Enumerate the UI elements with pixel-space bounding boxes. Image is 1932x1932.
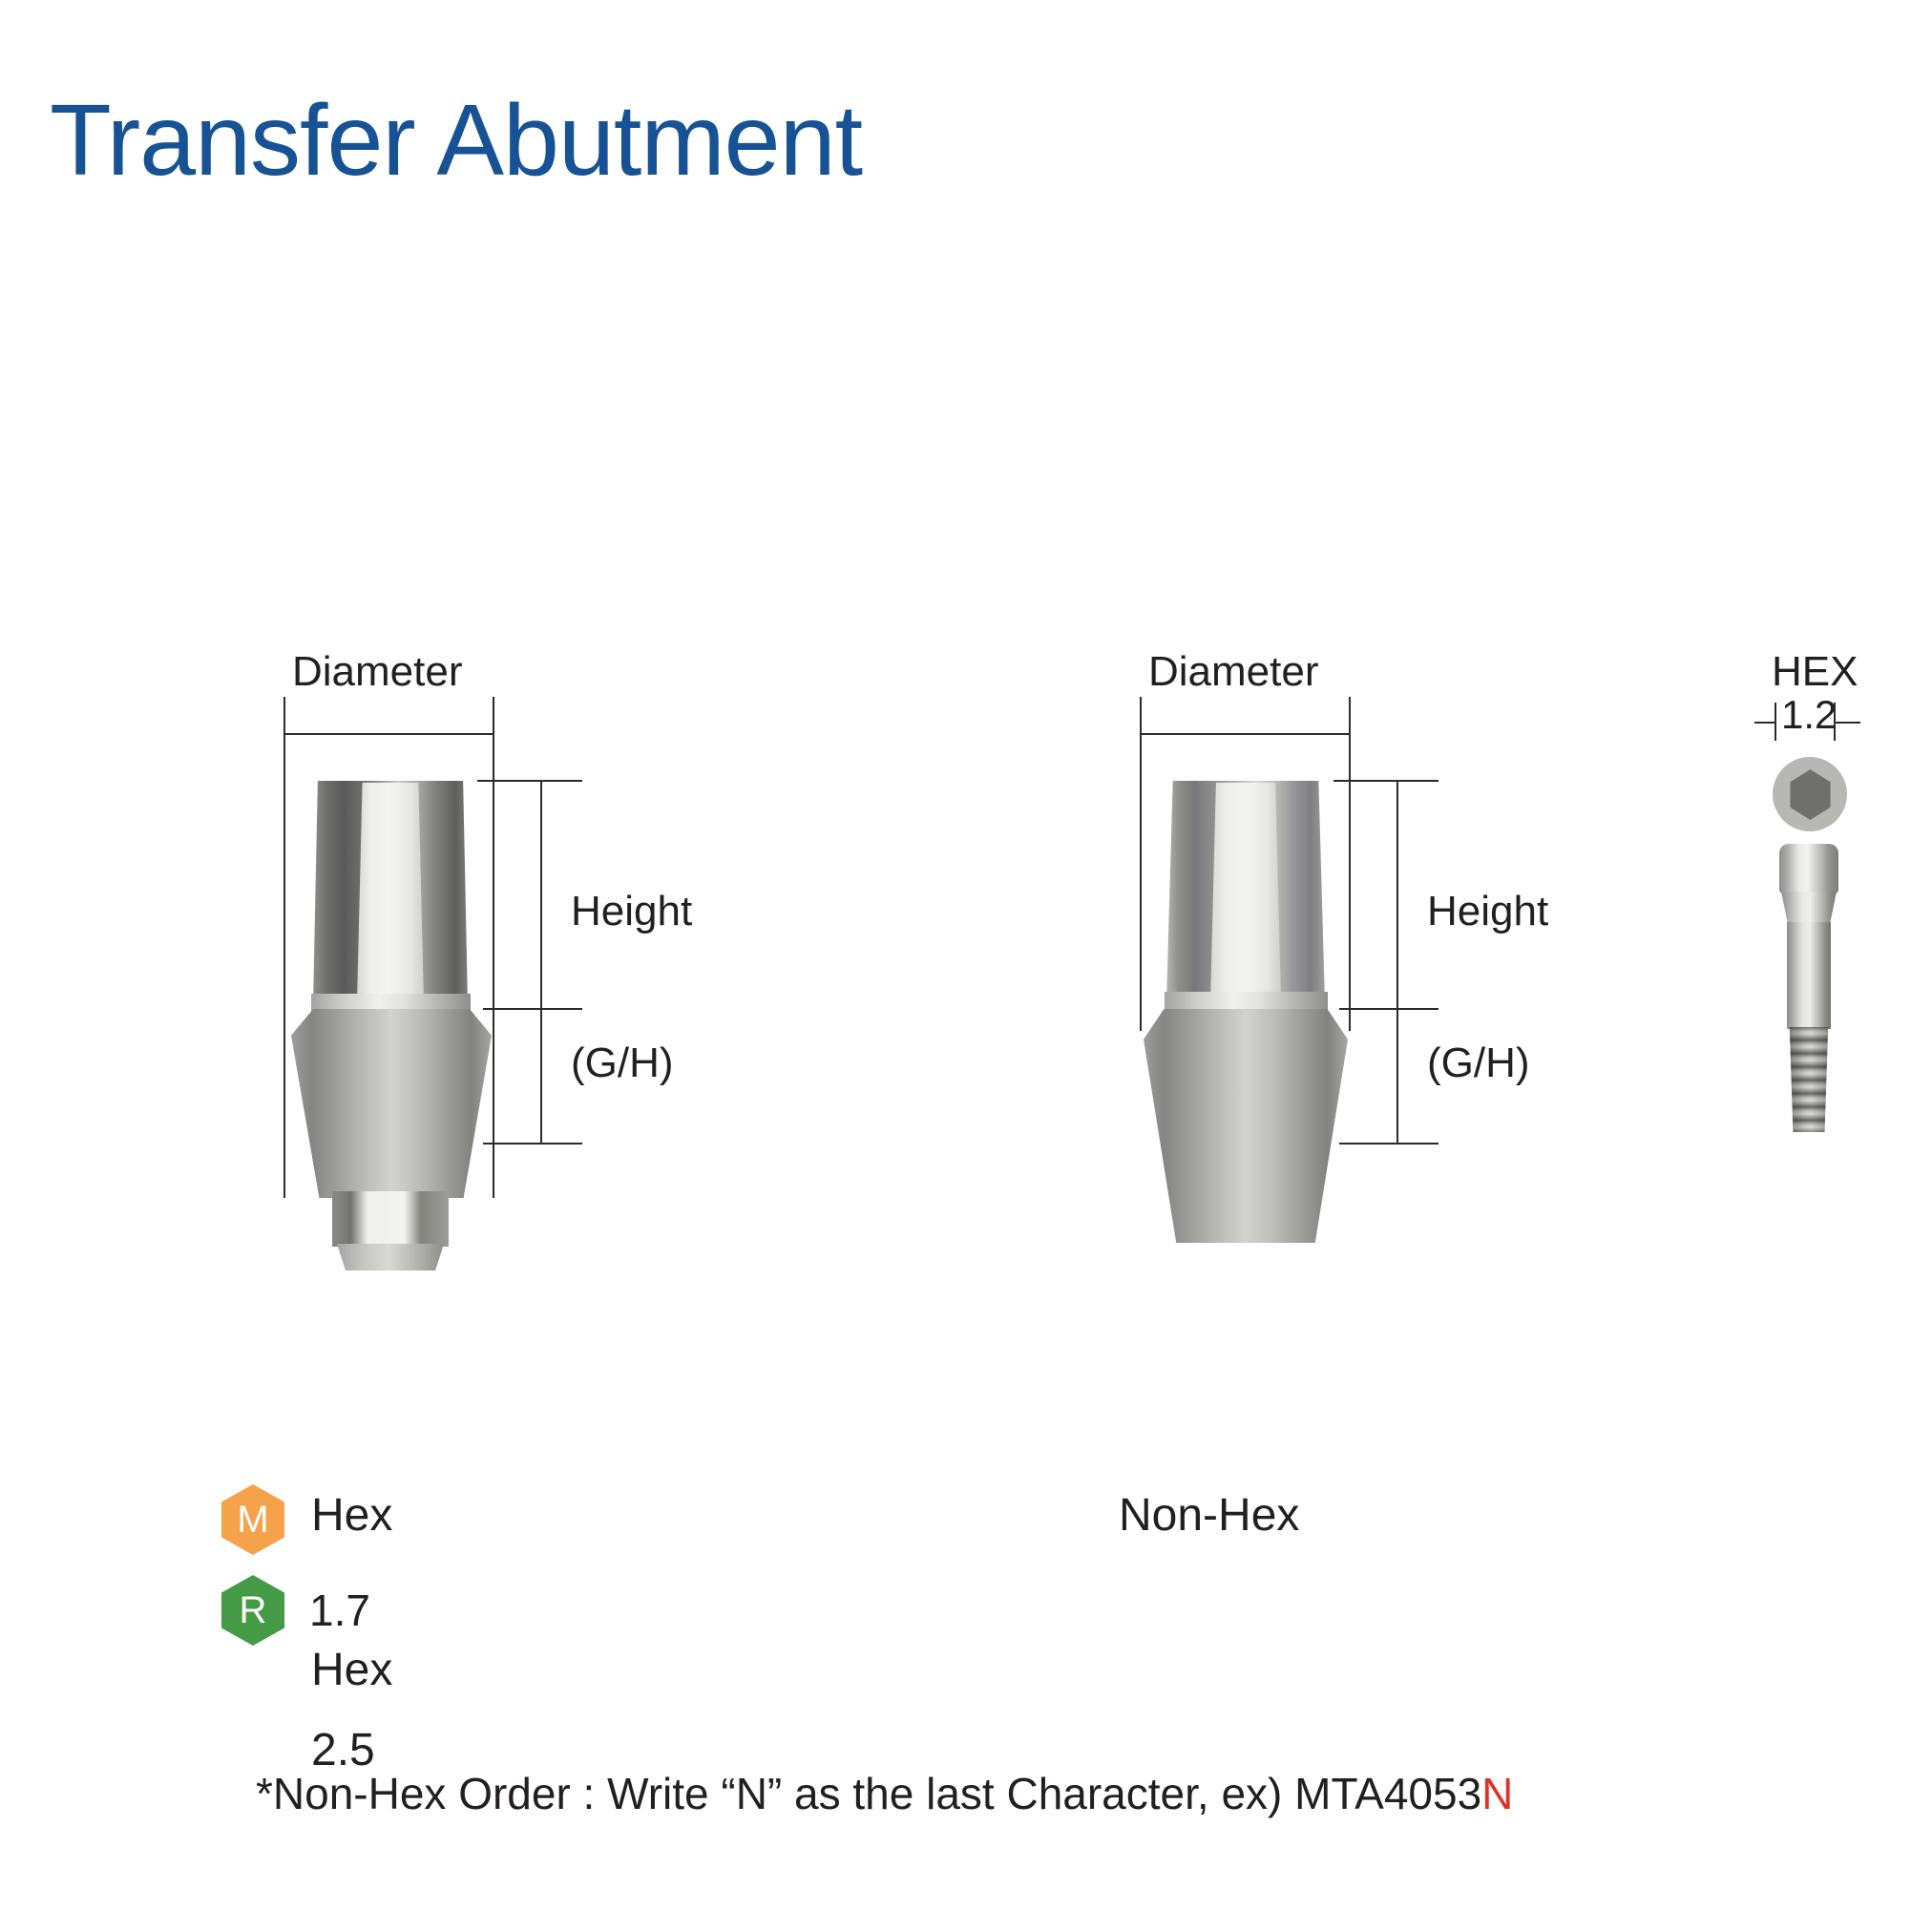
- right-gh-bottom-tick: [1339, 1143, 1438, 1144]
- hex-badge-r-icon: R: [221, 1575, 284, 1646]
- right-gh-label: (G/H): [1427, 1039, 1530, 1087]
- right-diameter-witness-right: [1349, 697, 1351, 1031]
- left-diameter-witness-right: [493, 697, 494, 1198]
- footnote-highlight-char: N: [1481, 1769, 1513, 1818]
- right-diameter-measure-line: [1140, 733, 1349, 735]
- left-height-label: Height: [571, 888, 692, 935]
- left-diameter-measure-line: [283, 733, 493, 735]
- left-height-bottom-tick: [483, 1008, 582, 1010]
- right-height-dim-line: [1396, 780, 1398, 1009]
- right-gh-dim-line: [1396, 1008, 1398, 1144]
- hex-badge-m-icon: M: [221, 1484, 284, 1555]
- left-abutment-hex-skirt: [337, 1244, 444, 1270]
- left-diameter-witness-left: [283, 697, 285, 1198]
- screw-shank: [1787, 922, 1831, 1029]
- left-diameter-label: Diameter: [292, 648, 463, 696]
- right-abutment-gingival-body: [1144, 1009, 1348, 1243]
- hex-column-title: HEX: [1772, 648, 1858, 696]
- right-diameter-label: Diameter: [1148, 648, 1319, 696]
- legend-extra-hex: Hex: [311, 1644, 392, 1696]
- legend-row-m: M: [221, 1484, 284, 1555]
- left-gh-label: (G/H): [571, 1039, 674, 1087]
- left-height-dim-line: [540, 780, 542, 1009]
- left-figure-caption: Hex: [311, 1489, 392, 1542]
- screw-head: [1779, 844, 1838, 893]
- left-height-top-tick: [477, 780, 582, 782]
- right-height-top-tick: [1333, 780, 1438, 782]
- footnote-main-text: *Non-Hex Order : Write “N” as the last C…: [256, 1769, 1481, 1818]
- left-abutment-gingival-body: [291, 1009, 492, 1198]
- right-height-bottom-tick: [1339, 1008, 1438, 1010]
- screw-thread: [1787, 1027, 1831, 1132]
- right-diameter-witness-left: [1140, 697, 1142, 1031]
- screw-neck: [1781, 892, 1837, 924]
- left-abutment-hex-base: [332, 1191, 449, 1247]
- hex-dim-ext-right: [1834, 722, 1860, 724]
- right-height-label: Height: [1427, 888, 1548, 935]
- legend-label-r: 1.7: [309, 1585, 370, 1636]
- right-figure-caption: Non-Hex: [1119, 1489, 1299, 1542]
- legend-row-r: R 1.7: [221, 1575, 370, 1646]
- hex-dim-tick-left: [1774, 703, 1776, 741]
- footnote: *Non-Hex Order : Write “N” as the last C…: [256, 1768, 1513, 1819]
- hex-dim-ext-left: [1754, 722, 1775, 724]
- left-gh-dim-line: [540, 1008, 542, 1144]
- hex-dimension-value: 1.2: [1781, 692, 1837, 738]
- left-abutment-facet: [357, 783, 424, 1002]
- left-gh-bottom-tick: [483, 1143, 582, 1144]
- right-abutment-facet: [1210, 783, 1281, 1000]
- page-title: Transfer Abutment: [50, 88, 862, 194]
